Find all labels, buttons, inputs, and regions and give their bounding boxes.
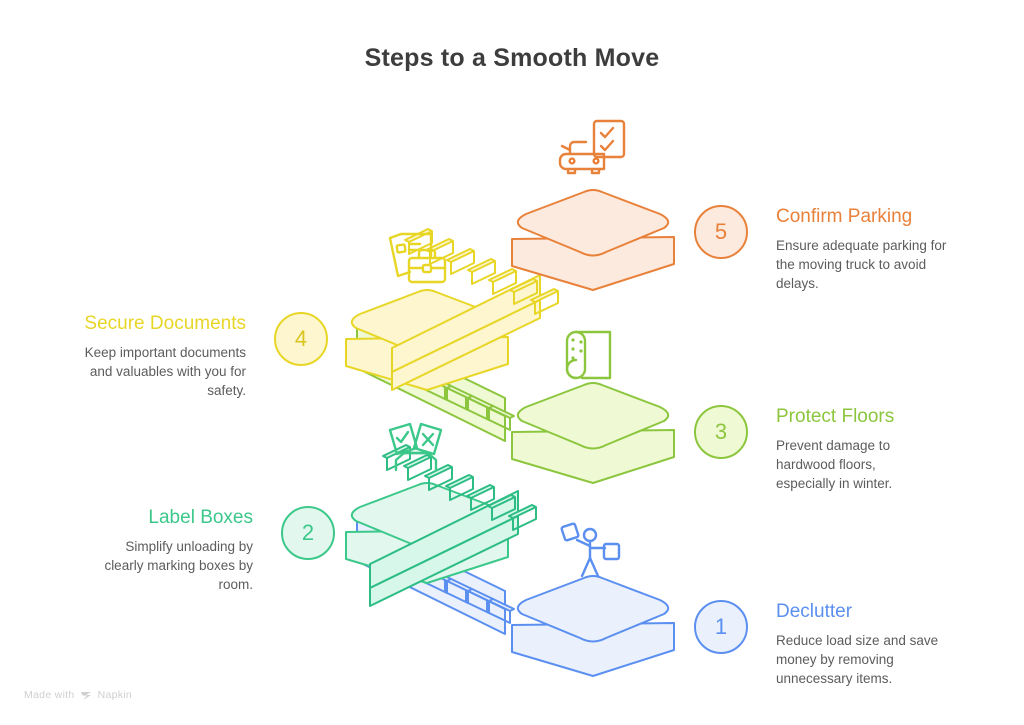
step-number-5: 5 [715,219,727,245]
watermark-prefix: Made with [24,689,75,701]
step-number-1: 1 [715,614,727,640]
step-description-4: Keep important documents and valuables w… [76,343,246,400]
step-item-1[interactable]: 1 Declutter Reduce load size and save mo… [694,600,961,688]
step-number-4: 4 [295,326,307,352]
step-item-2[interactable]: 2 Label Boxes Simplify unloading by clea… [98,506,335,594]
napkin-leaf-icon [80,690,93,701]
step-number-badge-2: 2 [281,506,335,560]
step-description-5: Ensure adequate parking for the moving t… [776,236,948,293]
step-number-badge-1: 1 [694,600,748,654]
step-number-badge-3: 3 [694,405,748,459]
step-number-3: 3 [715,419,727,445]
step-text-4: Secure Documents Keep important document… [76,312,246,400]
watermark: Made with Napkin [24,689,132,701]
step-item-5[interactable]: 5 Confirm Parking Ensure adequate parkin… [694,205,948,293]
step-item-3[interactable]: 3 Protect Floors Prevent damage to hardw… [694,405,922,493]
step-description-2: Simplify unloading by clearly marking bo… [98,537,253,594]
watermark-brand: Napkin [98,689,132,701]
platform-step-5 [512,190,674,290]
step-item-4[interactable]: 4 Secure Documents Keep important docume… [76,312,328,400]
documents-briefcase-icon [385,228,451,295]
platform-step-3 [512,383,674,483]
step-description-1: Reduce load size and save money by remov… [776,631,961,688]
step-text-1: Declutter Reduce load size and save mone… [776,600,961,688]
step-title-2: Label Boxes [148,506,253,530]
step-title-5: Confirm Parking [776,205,912,229]
floor-mat-roll-icon [562,328,626,391]
step-description-3: Prevent damage to hardwood floors, espec… [776,436,922,493]
step-title-4: Secure Documents [84,312,246,336]
step-title-3: Protect Floors [776,405,894,429]
step-title-1: Declutter [776,600,852,624]
step-number-badge-5: 5 [694,205,748,259]
platform-step-1 [512,576,674,676]
label-cards-box-icon [382,418,452,481]
step-text-2: Label Boxes Simplify unloading by clearl… [98,506,253,594]
person-tossing-box-icon [557,522,625,585]
step-number-2: 2 [302,520,314,546]
step-number-badge-4: 4 [274,312,328,366]
step-text-3: Protect Floors Prevent damage to hardwoo… [776,405,922,493]
step-text-5: Confirm Parking Ensure adequate parking … [776,205,948,293]
truck-checklist-icon [556,118,632,185]
